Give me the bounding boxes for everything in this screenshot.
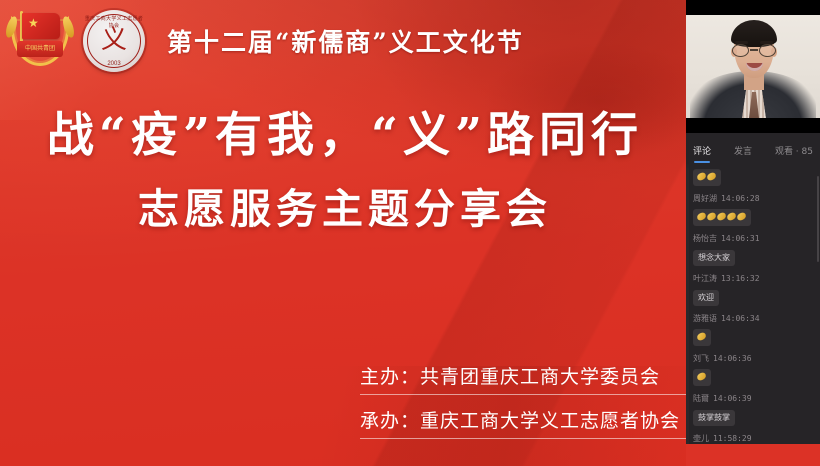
glasses-icon: [731, 44, 777, 57]
comment-list-scrollbar[interactable]: [817, 176, 819, 262]
volunteer-association-seal-icon: 重庆工商大学义工志愿者协会 义 2003: [83, 10, 145, 72]
clap-emoji-icon: [696, 372, 707, 381]
comment-meta: 叶江涛 13:16:32: [693, 274, 813, 284]
poster-title-block: 战“疫”有我，“义”路同行 志愿服务主题分享会: [0, 105, 690, 239]
comment-bubble-text: 欢迎: [693, 290, 719, 306]
poster-bleed-below-panel: [686, 444, 820, 466]
clap-emoji-icon: [706, 212, 717, 221]
list-item: 周好湖 14:06:28: [693, 194, 813, 226]
comment-time: 14:06:39: [713, 394, 752, 404]
poster-header: ★ 中国共青团 重庆工商大学义工志愿者协会 义 2003 第十二届“新儒商”义工…: [0, 0, 690, 82]
speaker-webcam-tile[interactable]: [686, 0, 820, 133]
comment-time: 14:06:28: [721, 194, 760, 204]
comment-meta: 游雅语 14:06:34: [693, 314, 813, 324]
comment-meta: 陆爾 14:06:39: [693, 394, 813, 404]
comment-author: 周好湖: [693, 194, 717, 204]
comment-meta: 刘飞 14:06:36: [693, 354, 813, 364]
poster-title-line-1: 战“疫”有我，“义”路同行: [0, 105, 690, 167]
clap-emoji-icon: [696, 332, 707, 341]
clap-emoji-icon: [736, 212, 747, 221]
comment-author: 陆爾: [693, 394, 709, 404]
clap-emoji-icon: [716, 212, 727, 221]
emblem-tag-label: 中国共青团: [17, 41, 63, 57]
comment-bubble-text: 想念大家: [693, 250, 735, 266]
glasses-bridge: [750, 49, 758, 51]
tab-comments[interactable]: 评论: [693, 146, 711, 163]
list-item: 壶儿 11:58:29: [693, 434, 813, 444]
comment-meta: 壶儿 11:58:29: [693, 434, 813, 444]
letterbox-bar-bottom: [686, 118, 820, 133]
communist-youth-league-emblem-icon: ★ 中国共青团: [9, 10, 71, 72]
list-item: 陆爾 14:06:39 鼓掌鼓掌: [693, 394, 813, 426]
comment-time: 14:06:13: [721, 163, 760, 164]
list-item: 叶江涛 13:16:32 欢迎: [693, 274, 813, 306]
list-item: 刘飞 14:06:36: [693, 354, 813, 386]
comment-bubble-emoji: [693, 329, 711, 346]
tab-viewers[interactable]: 观看 · 85: [775, 146, 813, 163]
tab-speak[interactable]: 发言: [734, 146, 752, 163]
comment-meta: 周好湖 14:06:28: [693, 194, 813, 204]
clap-emoji-icon: [726, 212, 737, 221]
comment-time: 13:16:32: [721, 274, 760, 284]
comment-time: 14:06:34: [721, 314, 760, 324]
comment-list[interactable]: 周怡欣 14:06:13 周好湖 14:06:28 杨怡吉 14:06:31 想…: [686, 163, 820, 444]
comment-meta: 周怡欣 14:06:13: [693, 163, 813, 164]
comment-author: 杨怡吉: [693, 234, 717, 244]
clap-emoji-icon: [696, 212, 707, 221]
comment-bubble-text: 鼓掌鼓掌: [693, 410, 735, 426]
comment-author: 刘飞: [693, 354, 709, 364]
glasses-lens-right: [759, 44, 776, 57]
list-item: 游雅语 14:06:34: [693, 314, 813, 346]
comment-meta: 杨怡吉 14:06:31: [693, 234, 813, 244]
comment-bubble-emoji: [693, 169, 721, 186]
comment-author: 叶江涛: [693, 274, 717, 284]
meeting-side-panel: 评论 发言 观看 · 85 周怡欣 14:06:13 周好湖 14:06:28: [686, 0, 820, 444]
clap-emoji-icon: [696, 172, 707, 181]
webcam-video-frame: [686, 0, 820, 133]
seal-top-label: 重庆工商大学义工志愿者协会: [83, 15, 145, 29]
letterbox-bar-top: [686, 0, 820, 15]
poster-title-line-2: 志愿服务主题分享会: [0, 179, 690, 239]
comment-time: 14:06:31: [721, 234, 760, 244]
comment-author: 游雅语: [693, 314, 717, 324]
list-item: 周怡欣 14:06:13: [693, 163, 813, 186]
list-item: 杨怡吉 14:06:31 想念大家: [693, 234, 813, 266]
comment-author: 壶儿: [693, 434, 709, 444]
seal-year-label: 2003: [83, 61, 145, 67]
comment-time: 11:58:29: [713, 434, 752, 444]
festival-header-title: 第十二届“新儒商”义工文化节: [167, 23, 524, 59]
comment-time: 14:06:36: [713, 354, 752, 364]
star-icon: ★: [28, 17, 39, 29]
clap-emoji-icon: [706, 172, 717, 181]
glasses-lens-left: [732, 44, 749, 57]
side-panel-tabs: 评论 发言 观看 · 85: [686, 133, 820, 163]
comment-author: 周怡欣: [693, 163, 717, 164]
comment-bubble-emoji: [693, 369, 711, 386]
comment-bubble-emoji: [693, 209, 751, 226]
screen-root: ★ 中国共青团 重庆工商大学义工志愿者协会 义 2003 第十二届“新儒商”义工…: [0, 0, 820, 466]
